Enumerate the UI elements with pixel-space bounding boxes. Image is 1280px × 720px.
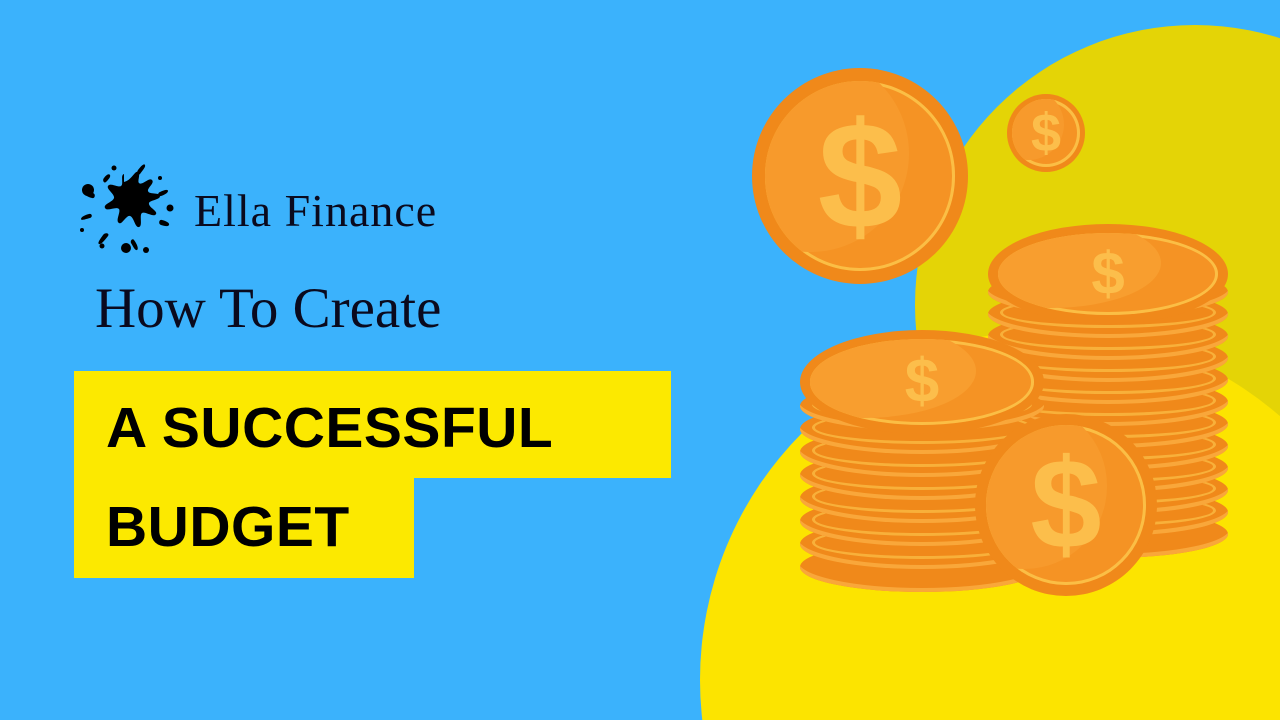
brand-lockup: Ella Finance (74, 162, 437, 258)
headline-line-2: BUDGET (74, 478, 414, 578)
brand-name: Ella Finance (194, 184, 437, 237)
title-kicker: How To Create (95, 276, 441, 341)
dollar-sign-icon: $ (988, 224, 1228, 324)
ink-splatter-icon (74, 162, 178, 258)
page-title: A SUCCESSFUL BUDGET (74, 371, 671, 578)
headline-line-1: A SUCCESSFUL (74, 371, 671, 478)
front-overlapping-coin: $ (975, 414, 1157, 596)
dollar-sign-icon: $ (1007, 94, 1085, 172)
small-floating-coin: $ (1007, 94, 1085, 172)
video-thumbnail-slide: $ $ $ $ (0, 0, 1280, 720)
dollar-sign-icon: $ (752, 68, 968, 284)
dollar-sign-icon: $ (975, 414, 1157, 596)
large-floating-coin: $ (752, 68, 968, 284)
